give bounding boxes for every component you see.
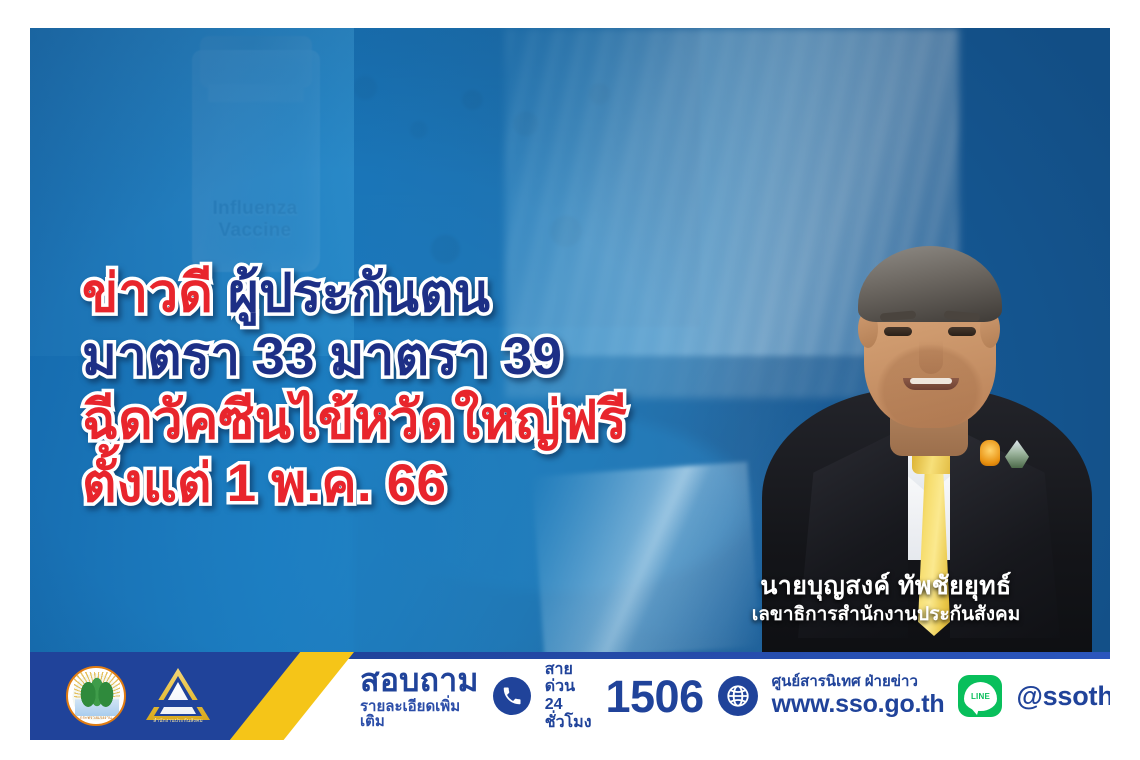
headline-line-2: มาตรา 33 มาตรา 39 (82, 327, 702, 387)
speaker-name-block: นายบุญสงค์ ทัพชัยยุทธ์ เลขาธิการสำนักงาน… (706, 571, 1066, 628)
headline-block: ข่าวดี ผู้ประกันตน มาตรา 33 มาตรา 39 ฉีด… (82, 264, 702, 518)
footer-hotline-label-1: สายด่วน (545, 661, 592, 696)
footer-contact-row: สอบถาม รายละเอียดเพิ่มเติม สายด่วน 24 ชั… (360, 652, 1100, 740)
footer-hotline-label-block: สายด่วน 24 ชั่วโมง (545, 661, 592, 731)
line-badge-text: LINE (971, 692, 990, 701)
globe-icon[interactable] (718, 676, 758, 716)
footer-website-url[interactable]: www.sso.go.th (772, 690, 945, 718)
footer-website-label: ศูนย์สารนิเทศ ฝ่ายข่าว (772, 674, 945, 691)
headline-line-1-red: ข่าวดี (82, 264, 213, 323)
portrait-eye-right (948, 327, 976, 336)
portrait-teeth (910, 378, 952, 384)
sso-logo-caption: สำนักงานประกันสังคม (142, 717, 214, 725)
poster-page: Influenza Vaccine 10 ml (0, 0, 1140, 760)
footer-hotline-number[interactable]: 1506 (606, 674, 704, 719)
footer-line-id[interactable]: @ssothai (1016, 681, 1110, 712)
banner-card: Influenza Vaccine 10 ml (30, 28, 1110, 740)
sso-logo-icon: สำนักงานประกันสังคม (142, 666, 214, 726)
headline-line-4: ตั้งแต่ 1 พ.ค. 66 (82, 454, 702, 514)
speaker-title: เลขาธิการสำนักงานประกันสังคม (706, 603, 1066, 628)
phone-icon[interactable] (493, 677, 531, 715)
footer-website-block[interactable]: ศูนย์สารนิเทศ ฝ่ายข่าว www.sso.go.th (772, 674, 945, 719)
portrait-eye-left (884, 327, 912, 336)
footer-ask-subtitle: รายละเอียดเพิ่มเติม (360, 699, 479, 729)
ministry-of-labour-logo-icon: กระทรวงแรงงาน (66, 666, 126, 726)
footer-ask-block: สอบถาม รายละเอียดเพิ่มเติม (360, 664, 479, 729)
headline-line-1-blue: ผู้ประกันตน (228, 264, 490, 323)
footer-bar: กระทรวงแรงงาน สำนักงานประกันสังคม สอบถาม… (30, 652, 1110, 740)
headline-line-3: ฉีดวัคซีนไข้หวัดใหญ่ฟรี (82, 391, 702, 451)
line-bubble-shape: LINE (964, 682, 997, 711)
portrait-hair (858, 246, 1002, 322)
headline-line-1: ข่าวดี ผู้ประกันตน (82, 264, 702, 324)
footer-ask-title: สอบถาม (360, 664, 479, 696)
ministry-logo-caption: กระทรวงแรงงาน (68, 714, 124, 721)
portrait-lapel-pin-gold-icon (980, 440, 1000, 466)
portrait-nose (919, 340, 943, 374)
line-app-icon[interactable]: LINE (958, 675, 1002, 717)
footer-hotline-label-2: 24 ชั่วโมง (545, 696, 592, 731)
ministry-logo-emblem (75, 676, 119, 716)
speaker-name: นายบุญสงค์ ทัพชัยยุทธ์ (706, 571, 1066, 602)
sso-logo-bar (152, 700, 204, 707)
